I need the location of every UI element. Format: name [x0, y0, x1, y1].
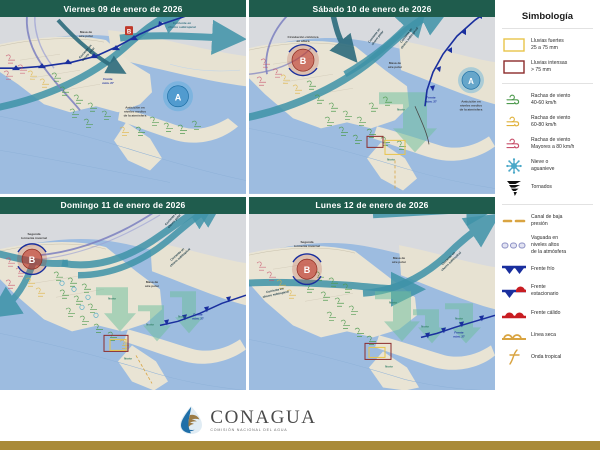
legend-label-upper-trough: Vaguada en niveles altos de la atmósfera: [531, 235, 566, 256]
legend-label-dry-line: Línea seca: [531, 332, 556, 339]
legend-group-rainfall: Lluvias fuertes 25 a 75 mm Lluvias inten…: [500, 34, 595, 78]
legend-item-dry-line[interactable]: Línea seca: [500, 327, 595, 344]
svg-text:aire polar: aire polar: [388, 65, 403, 69]
organization-subtitle: COMISIÓN NACIONAL DEL AGUA: [210, 429, 316, 433]
high-pressure-center-saturday: A: [458, 67, 484, 93]
tornado-icon: [500, 180, 527, 197]
svg-text:núm. 27: núm. 27: [192, 316, 204, 320]
cold-front-icon: [500, 261, 527, 278]
svg-text:Norte: Norte: [455, 316, 463, 320]
legend-item-cold-front[interactable]: Frente frío: [500, 261, 595, 278]
svg-text:núm. 27: núm. 27: [453, 334, 465, 338]
legend-label-wind-over-80: Rachas de viento Mayores a 80 km/h: [531, 137, 574, 151]
legend-panel: Simbología Lluvias fuertes 25 a 75 mm Ll…: [495, 0, 600, 450]
dry-line-icon: [500, 327, 527, 344]
legend-label-intense-rain: Lluvias intensas > 75 mm: [531, 60, 567, 74]
upper-level-trough-icon: [500, 237, 527, 254]
legend-title: Simbología: [500, 11, 595, 22]
legend-item-stationary-front[interactable]: Frente estacionario: [500, 283, 595, 300]
svg-text:Norte: Norte: [146, 322, 154, 326]
organization-name: CONAGUA: [210, 408, 316, 427]
map-canvas-monday: B Segundatormenta invernal Masa deaire p…: [249, 197, 495, 391]
winter-storm-low-monday: B: [292, 253, 322, 284]
svg-text:Norte: Norte: [124, 356, 132, 360]
svg-text:de la atmósfera: de la atmósfera: [124, 113, 147, 117]
high-pressure-center-friday: A: [163, 81, 193, 111]
legend-item-tornado[interactable]: Tornados: [500, 180, 595, 197]
forecast-panel-sunday[interactable]: B Segundatormenta invernal Masa deaire p…: [0, 197, 246, 391]
legend-label-stationary-front: Frente estacionario: [531, 284, 558, 298]
conagua-logo: CONAGUA COMISIÓN NACIONAL DEL AGUA: [178, 405, 316, 435]
low-pressure-center-friday: B: [125, 26, 133, 36]
map-canvas-sunday: B Segundatormenta invernal Masa deaire p…: [0, 197, 246, 391]
legend-label-low-trough: Canal de baja presión: [531, 214, 562, 228]
svg-text:Norte: Norte: [389, 300, 397, 304]
legend-item-wind-over-80[interactable]: Rachas de viento Mayores a 80 km/h: [500, 136, 595, 153]
legend-divider-mid-1: [502, 83, 593, 84]
svg-text:de la atmósfera: de la atmósfera: [460, 107, 483, 111]
legend-label-heavy-rain: Lluvias fuertes 25 a 75 mm: [531, 38, 564, 52]
snow-sleet-icon: [500, 158, 527, 175]
svg-text:A: A: [175, 92, 182, 102]
tropical-wave-icon: [500, 349, 527, 366]
svg-text:Norte: Norte: [178, 314, 186, 318]
rain-box-darkred-icon: [500, 59, 527, 76]
stationary-front-icon: [500, 283, 527, 300]
legend-label-warm-front: Frente cálido: [531, 310, 560, 317]
svg-text:tormenta invernal: tormenta invernal: [294, 244, 320, 248]
forecast-panel-saturday[interactable]: B A Circulación ciclónicaen altura Vagua…: [249, 0, 495, 194]
legend-item-intense-rain[interactable]: Lluvias intensas > 75 mm: [500, 59, 595, 76]
forecast-panel-monday[interactable]: B Segundatormenta invernal Masa deaire p…: [249, 197, 495, 391]
legend-item-snow[interactable]: Nieve o aguanieve: [500, 158, 595, 175]
svg-text:Norte: Norte: [387, 157, 395, 161]
cyclonic-circulation-saturday: B: [287, 44, 319, 76]
svg-text:núm. 27: núm. 27: [102, 81, 114, 85]
svg-text:núm. 27: núm. 27: [425, 99, 437, 103]
legend-item-heavy-rain[interactable]: Lluvias fuertes 25 a 75 mm: [500, 37, 595, 54]
panel-title-monday: Lunes 12 de enero de 2026: [249, 197, 495, 214]
svg-text:en altura: en altura: [297, 39, 310, 43]
svg-text:chorro subtropical: chorro subtropical: [168, 25, 195, 29]
svg-text:Norte: Norte: [397, 107, 405, 111]
svg-text:B: B: [304, 265, 311, 275]
svg-text:aire polar: aire polar: [392, 260, 407, 264]
legend-divider-top: [502, 28, 593, 29]
svg-text:B: B: [29, 255, 36, 265]
conagua-eagle-water-drop-logo-icon: [178, 405, 204, 435]
wind-gust-green-icon: [500, 92, 527, 109]
forecast-panel-friday[interactable]: B A Vaguadaen altura Masa deaire polar A…: [0, 0, 246, 194]
legend-item-wind-60-80[interactable]: Rachas de viento 60-80 km/h: [500, 114, 595, 131]
wind-gust-red-icon: [500, 136, 527, 153]
svg-text:Norte: Norte: [421, 324, 429, 328]
warm-front-icon: [500, 305, 527, 322]
map-canvas-friday: B A Vaguadaen altura Masa deaire polar A…: [0, 0, 246, 194]
legend-divider-mid-2: [502, 204, 593, 205]
legend-label-wind-60-80: Rachas de viento 60-80 km/h: [531, 115, 570, 129]
map-panels-area: B A Vaguadaen altura Masa deaire polar A…: [0, 0, 495, 450]
legend-label-wind-40-60: Rachas de viento 40-60 km/h: [531, 93, 570, 107]
panel-title-sunday: Domingo 11 de enero de 2026: [0, 197, 246, 214]
svg-text:A: A: [468, 77, 474, 86]
panel-title-saturday: Sábado 10 de enero de 2026: [249, 0, 495, 17]
svg-text:B: B: [300, 56, 307, 66]
panel-title-friday: Viernes 09 de enero de 2026: [0, 0, 246, 17]
legend-label-cold-front: Frente frío: [531, 266, 555, 273]
svg-text:Norte: Norte: [385, 364, 393, 368]
weather-forecast-infographic: B A Vaguadaen altura Masa deaire polar A…: [0, 0, 600, 450]
svg-text:tormenta invernal: tormenta invernal: [21, 236, 47, 240]
legend-item-upper-trough[interactable]: Vaguada en niveles altos de la atmósfera: [500, 235, 595, 256]
legend-item-warm-front[interactable]: Frente cálido: [500, 305, 595, 322]
rain-box-yellow-icon: [500, 37, 527, 54]
legend-item-low-trough[interactable]: Canal de baja presión: [500, 213, 595, 230]
conagua-logo-text: CONAGUA COMISIÓN NACIONAL DEL AGUA: [210, 408, 316, 433]
bottom-gold-bar: [0, 441, 600, 450]
wind-gust-yellow-icon: [500, 114, 527, 131]
winter-storm-low-sunday: B: [17, 243, 47, 274]
legend-item-wind-40-60[interactable]: Rachas de viento 40-60 km/h: [500, 92, 595, 109]
legend-group-phenomena: Rachas de viento 40-60 km/h Rachas de vi…: [500, 89, 595, 199]
legend-label-tornado: Tornados: [531, 184, 552, 191]
legend-group-fronts: Canal de baja presión Vaguada en niveles…: [500, 210, 595, 368]
svg-text:Norte: Norte: [108, 296, 116, 300]
svg-text:aire polar: aire polar: [79, 34, 94, 38]
svg-text:B: B: [127, 30, 132, 36]
legend-item-tropical-wave[interactable]: Onda tropical: [500, 349, 595, 366]
svg-text:aire polar: aire polar: [145, 284, 160, 288]
legend-label-tropical-wave: Onda tropical: [531, 354, 561, 361]
legend-label-snow: Nieve o aguanieve: [531, 159, 555, 173]
map-canvas-saturday: B A Circulación ciclónicaen altura Vagua…: [249, 0, 495, 194]
low-pressure-trough-dashes-icon: [500, 213, 527, 230]
panel-grid: B A Vaguadaen altura Masa deaire polar A…: [0, 0, 495, 390]
